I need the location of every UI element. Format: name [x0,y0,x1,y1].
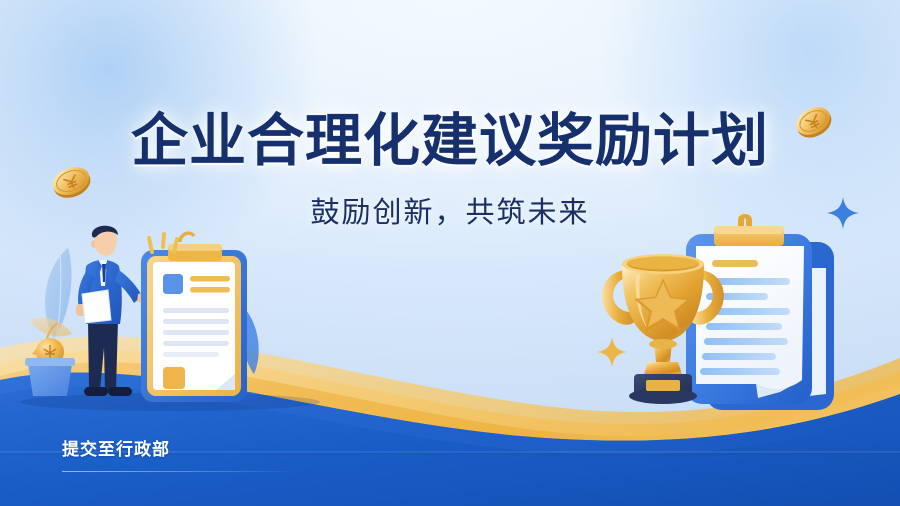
footer-label: 提交至行政部 [62,435,310,460]
page-subtitle: 鼓励创新，共筑未来 [0,196,900,231]
clipboard-left [141,233,247,402]
gold-spark-burst-icon [146,232,180,258]
footer-block: 提交至行政部 [62,435,310,472]
page-title: 企业合理化建议奖励计划 [0,112,900,171]
footer-divider [62,471,300,472]
clipboard-right-front [686,214,812,404]
right-illustration [580,212,870,427]
left-illustration [10,224,260,414]
gold-sparkle-icon [596,336,628,368]
presentation-slide: 企业合理化建议奖励计划 鼓励创新，共筑未来 提交至行政部 [0,0,900,506]
